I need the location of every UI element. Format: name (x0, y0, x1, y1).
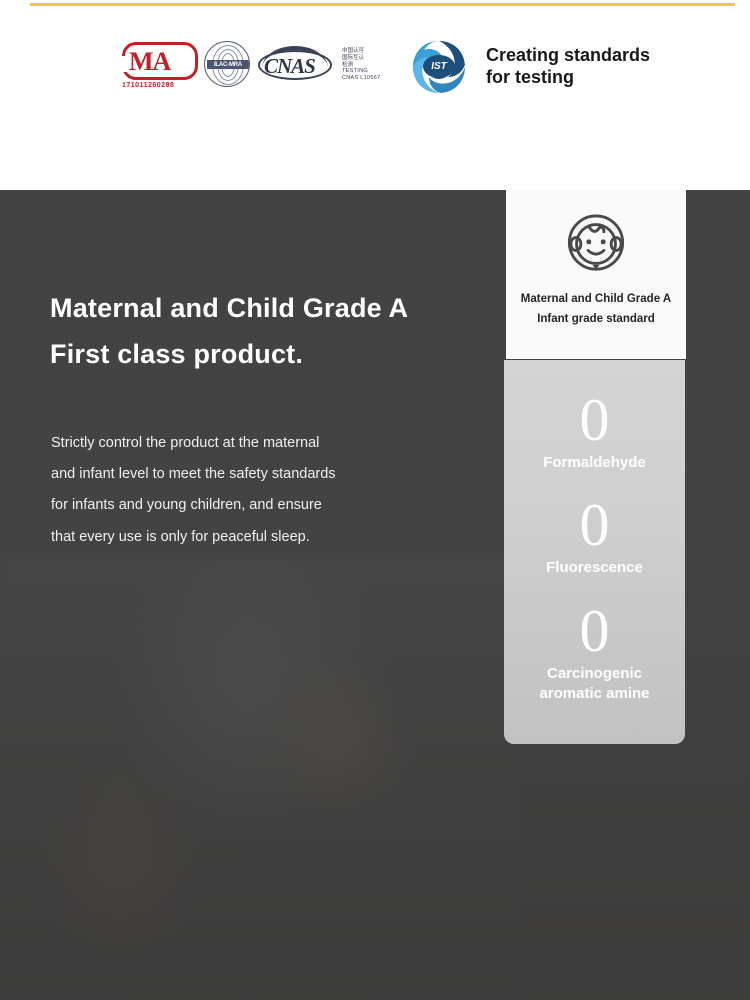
spec-header-line-2: Infant grade standard (516, 310, 676, 330)
cnas-detail-line-3: 检测 (342, 62, 380, 69)
cnas-certification-logo: CNAS (258, 42, 336, 88)
spec-header-line-1: Maternal and Child Grade A (516, 290, 676, 310)
ist-brand-block: IST Creating standards for testing (410, 38, 650, 96)
cnas-detail-line-1: 中国认可 (342, 48, 380, 55)
spec-label-formaldehyde: Formaldehyde (510, 453, 679, 473)
cnas-detail-line-4: TESTING (342, 68, 380, 75)
spec-card: Maternal and Child Grade A Infant grade … (506, 190, 686, 359)
spec-label-fluorescence: Fluorescence (510, 558, 679, 578)
hero-title-line-1: Maternal and Child Grade A (50, 285, 408, 331)
top-accent-rule (30, 3, 735, 6)
ist-logo: IST (410, 38, 468, 96)
ilac-band: ILAC-MRA (207, 60, 249, 69)
spec-value-fluorescence: 0 (510, 497, 679, 554)
spec-value-formaldehyde: 0 (510, 392, 679, 449)
cma-mark-text: MA (129, 47, 170, 77)
cnas-accreditation-details: 中国认可 国际互认 检测 TESTING CNAS L10567 (342, 48, 380, 82)
ist-tagline-line-1: Creating standards (486, 45, 650, 67)
spec-item-fluorescence: 0 Fluorescence (504, 487, 685, 592)
ilac-globe-icon: ILAC-MRA (204, 41, 250, 87)
cma-registration-number: 171011260288 (122, 82, 174, 89)
hero-section: Maternal and Child Grade A First class p… (0, 190, 750, 1000)
spec-card-body: 0 Formaldehyde 0 Fluorescence 0 Carcinog… (504, 360, 685, 744)
ist-logo-text: IST (431, 61, 447, 72)
ilac-mra-certification-logo: ILAC-MRA (204, 41, 252, 89)
spec-item-carcinogenic-aromatic-amine: 0 Carcinogenic aromatic amine (504, 593, 685, 719)
ist-tagline-line-2: for testing (486, 67, 650, 89)
cnas-detail-line-2: 国际互认 (342, 55, 380, 62)
cnas-detail-line-5: CNAS L10567 (342, 75, 380, 82)
ist-badge: IST (423, 55, 455, 78)
hero-title-line-2: First class product. (50, 331, 408, 377)
ist-tagline: Creating standards for testing (486, 45, 650, 89)
certification-header: MA 171011260288 ILAC-MRA CNAS 中国认可 国际互认 … (0, 0, 750, 190)
hero-title: Maternal and Child Grade A First class p… (50, 285, 408, 378)
baby-face-icon (560, 208, 632, 280)
hero-body-line-4: that every use is only for peaceful slee… (51, 522, 336, 553)
spec-item-formaldehyde: 0 Formaldehyde (504, 382, 685, 487)
cnas-mark-text: CNAS (264, 54, 315, 79)
ilac-mark-text: ILAC-MRA (214, 62, 242, 68)
hero-description: Strictly control the product at the mate… (51, 428, 336, 553)
hero-body-line-3: for infants and young children, and ensu… (51, 490, 336, 521)
spec-label-carcinogenic-aromatic-amine-line-2: aromatic amine (510, 684, 679, 704)
cma-certification-logo: MA 171011260288 (120, 38, 200, 92)
hero-body-line-2: and infant level to meet the safety stan… (51, 459, 336, 490)
spec-value-carcinogenic-aromatic-amine: 0 (510, 603, 679, 660)
hero-body-line-1: Strictly control the product at the mate… (51, 428, 336, 459)
spec-card-header: Maternal and Child Grade A Infant grade … (506, 190, 686, 359)
spec-label-carcinogenic-aromatic-amine-line-1: Carcinogenic (510, 664, 679, 684)
certification-logo-row: MA 171011260288 ILAC-MRA CNAS 中国认可 国际互认 … (120, 38, 380, 92)
